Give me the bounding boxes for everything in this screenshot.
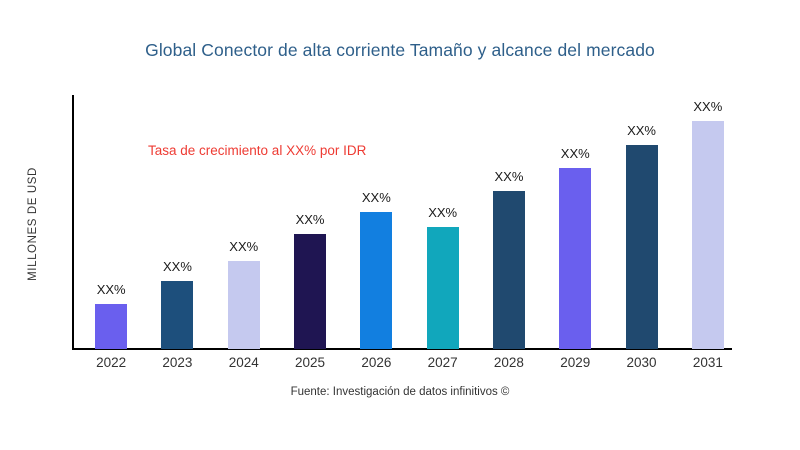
x-tick-2026: 2026 [346, 355, 406, 370]
bar-2023[interactable] [161, 281, 193, 349]
x-tick-2031: 2031 [678, 355, 738, 370]
bar-value-label-2023: XX% [147, 259, 207, 274]
bar-value-label-2028: XX% [479, 169, 539, 184]
bar-value-label-2024: XX% [214, 239, 274, 254]
bar-value-label-2025: XX% [280, 212, 340, 227]
x-tick-2030: 2030 [612, 355, 672, 370]
bar-value-label-2022: XX% [81, 282, 141, 297]
x-tick-2023: 2023 [147, 355, 207, 370]
bar-2027[interactable] [427, 227, 459, 349]
chart-container: Global Conector de alta corriente Tamaño… [0, 0, 800, 450]
bar-2025[interactable] [294, 234, 326, 349]
bar-value-label-2026: XX% [346, 190, 406, 205]
bar-value-label-2030: XX% [612, 123, 672, 138]
bar-2031[interactable] [692, 121, 724, 349]
bar-value-label-2031: XX% [678, 99, 738, 114]
x-tick-2028: 2028 [479, 355, 539, 370]
bar-2022[interactable] [95, 304, 127, 349]
bar-2026[interactable] [360, 212, 392, 349]
bar-2028[interactable] [493, 191, 525, 349]
x-tick-2024: 2024 [214, 355, 274, 370]
bar-2030[interactable] [626, 145, 658, 349]
bar-value-label-2029: XX% [545, 146, 605, 161]
bar-2024[interactable] [228, 261, 260, 349]
growth-rate-annotation: Tasa de crecimiento al XX% por IDR [148, 143, 366, 158]
x-tick-2029: 2029 [545, 355, 605, 370]
source-note: Fuente: Investigación de datos infinitiv… [0, 386, 800, 398]
bar-2029[interactable] [559, 168, 591, 349]
x-tick-2022: 2022 [81, 355, 141, 370]
y-axis-line [72, 95, 74, 350]
x-tick-2027: 2027 [413, 355, 473, 370]
bar-value-label-2027: XX% [413, 205, 473, 220]
plot-area: Tasa de crecimiento al XX% por IDR XX%XX… [0, 0, 800, 450]
x-tick-2025: 2025 [280, 355, 340, 370]
